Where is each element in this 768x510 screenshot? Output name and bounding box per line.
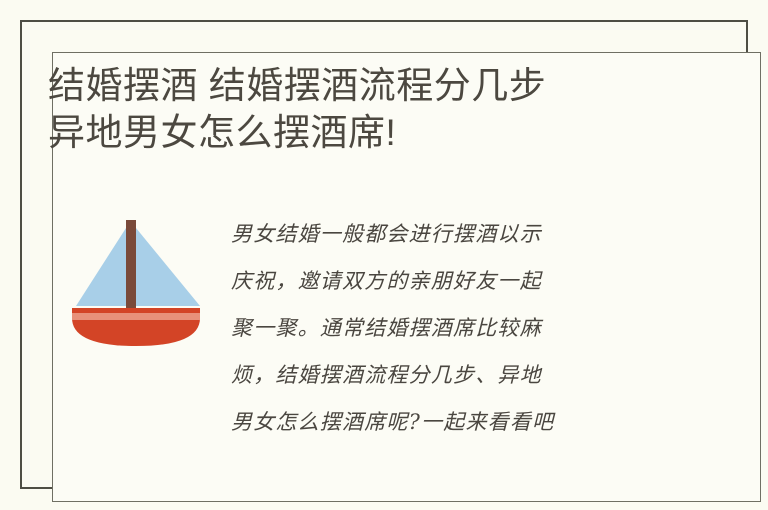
article-body: 男女结婚一般都会进行摆酒以示 庆祝，邀请双方的亲朋好友一起 聚一聚。通常结婚摆酒…: [231, 211, 663, 446]
article-page: 结婚摆酒 结婚摆酒流程分几步 异地男女怎么摆酒席! 男女结婚一般都会进行摆酒以示…: [0, 0, 768, 510]
sailboat-mast-shape: [126, 220, 136, 312]
page-title: 结婚摆酒 结婚摆酒流程分几步 异地男女怎么摆酒席!: [48, 62, 688, 156]
sailboat-left-sail-shape: [76, 228, 126, 306]
sailboat-right-sail-shape: [136, 228, 200, 306]
sailboat-icon: [62, 206, 210, 351]
article-body-line: 烦，结婚摆酒流程分几步、异地: [231, 352, 663, 399]
article-body-line: 聚一聚。通常结婚摆酒席比较麻: [231, 305, 663, 352]
page-title-line-1: 结婚摆酒 结婚摆酒流程分几步: [48, 62, 688, 109]
article-body-line: 男女结婚一般都会进行摆酒以示: [231, 211, 663, 258]
page-title-line-2: 异地男女怎么摆酒席!: [48, 109, 688, 156]
article-body-line: 男女怎么摆酒席呢?一起来看看吧: [231, 399, 663, 446]
article-body-line: 庆祝，邀请双方的亲朋好友一起: [231, 258, 663, 305]
sailboat-hull-stripe-shape: [72, 313, 200, 320]
